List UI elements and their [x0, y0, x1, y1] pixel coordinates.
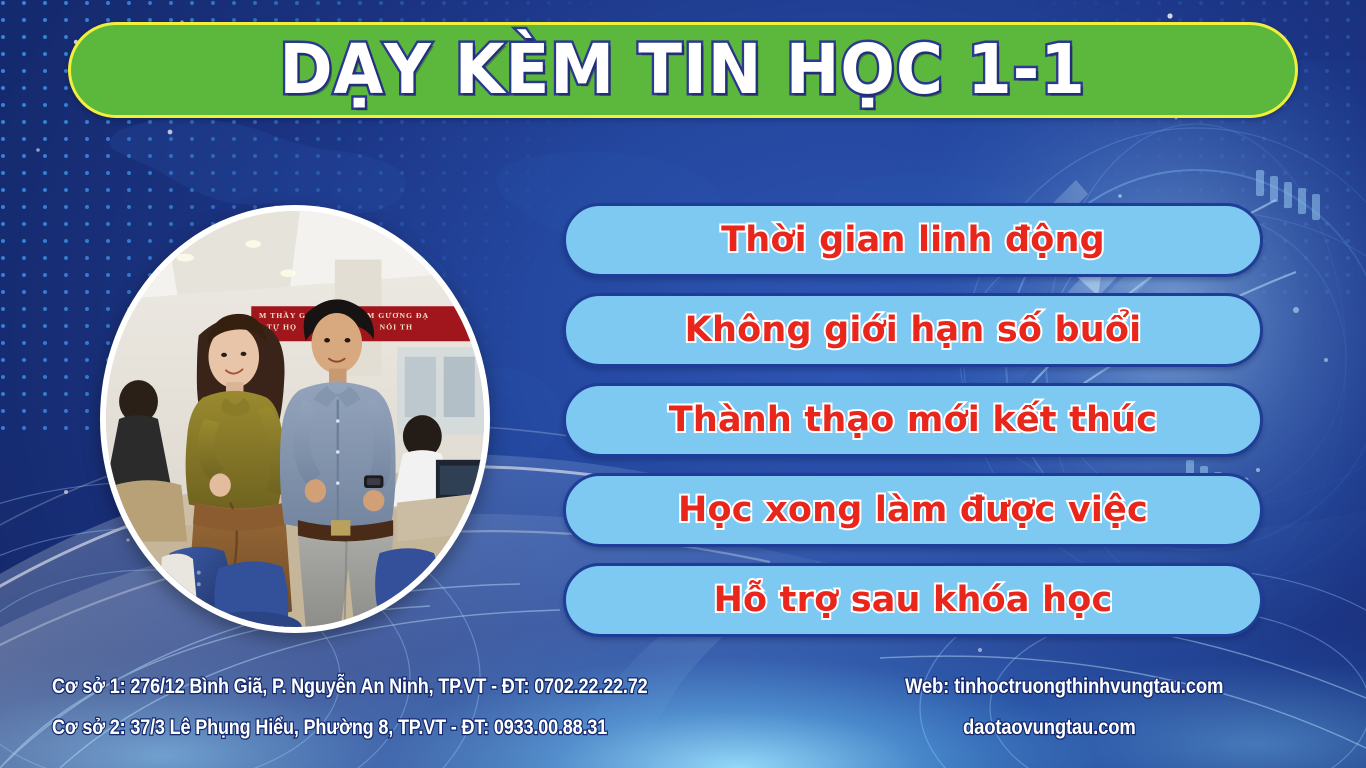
- promotional-banner: DẠY KÈM TIN HỌC 1-1: [0, 0, 1366, 768]
- feature-label: Không giới hạn số buổi: [685, 313, 1142, 348]
- footer: Cơ sở 1: 276/12 Bình Giã, P. Nguyễn An N…: [0, 660, 1366, 768]
- feature-pill-1[interactable]: Thời gian linh động: [563, 203, 1263, 277]
- feature-pill-2[interactable]: Không giới hạn số buổi: [563, 293, 1263, 367]
- feature-label: Thành thạo mới kết thúc: [669, 403, 1157, 438]
- address-line-1: Cơ sở 1: 276/12 Bình Giã, P. Nguyễn An N…: [52, 666, 647, 707]
- website-line-2[interactable]: daotaovungtau.com: [963, 707, 1282, 748]
- website-line-1[interactable]: Web: tinhoctruongthinhvungtau.com: [905, 666, 1275, 707]
- title-banner: DẠY KÈM TIN HỌC 1-1: [68, 22, 1298, 118]
- feature-label: Thời gian linh động: [721, 223, 1105, 258]
- feature-pill-5[interactable]: Hỗ trợ sau khóa học: [563, 563, 1263, 637]
- photo-oval: M THẦY GƯƠ TẤM GƯƠNG ĐẠ TỰ HỌ NÓI TH: [100, 205, 490, 633]
- page-title: DẠY KÈM TIN HỌC 1-1: [280, 36, 1086, 105]
- address-line-2: Cơ sở 2: 37/3 Lê Phụng Hiểu, Phường 8, T…: [52, 707, 647, 748]
- feature-list: Thời gian linh động Không giới hạn số bu…: [563, 203, 1263, 637]
- classroom-photo: M THẦY GƯƠ TẤM GƯƠNG ĐẠ TỰ HỌ NÓI TH: [106, 211, 484, 627]
- footer-addresses: Cơ sở 1: 276/12 Bình Giã, P. Nguyễn An N…: [52, 666, 744, 748]
- svg-text:NÓI TH: NÓI TH: [380, 322, 414, 332]
- feature-label: Hỗ trợ sau khóa học: [714, 583, 1113, 618]
- feature-label: Học xong làm được việc: [678, 493, 1148, 528]
- footer-websites: Web: tinhoctruongthinhvungtau.com daotao…: [905, 666, 1325, 748]
- feature-pill-4[interactable]: Học xong làm được việc: [563, 473, 1263, 547]
- feature-pill-3[interactable]: Thành thạo mới kết thúc: [563, 383, 1263, 457]
